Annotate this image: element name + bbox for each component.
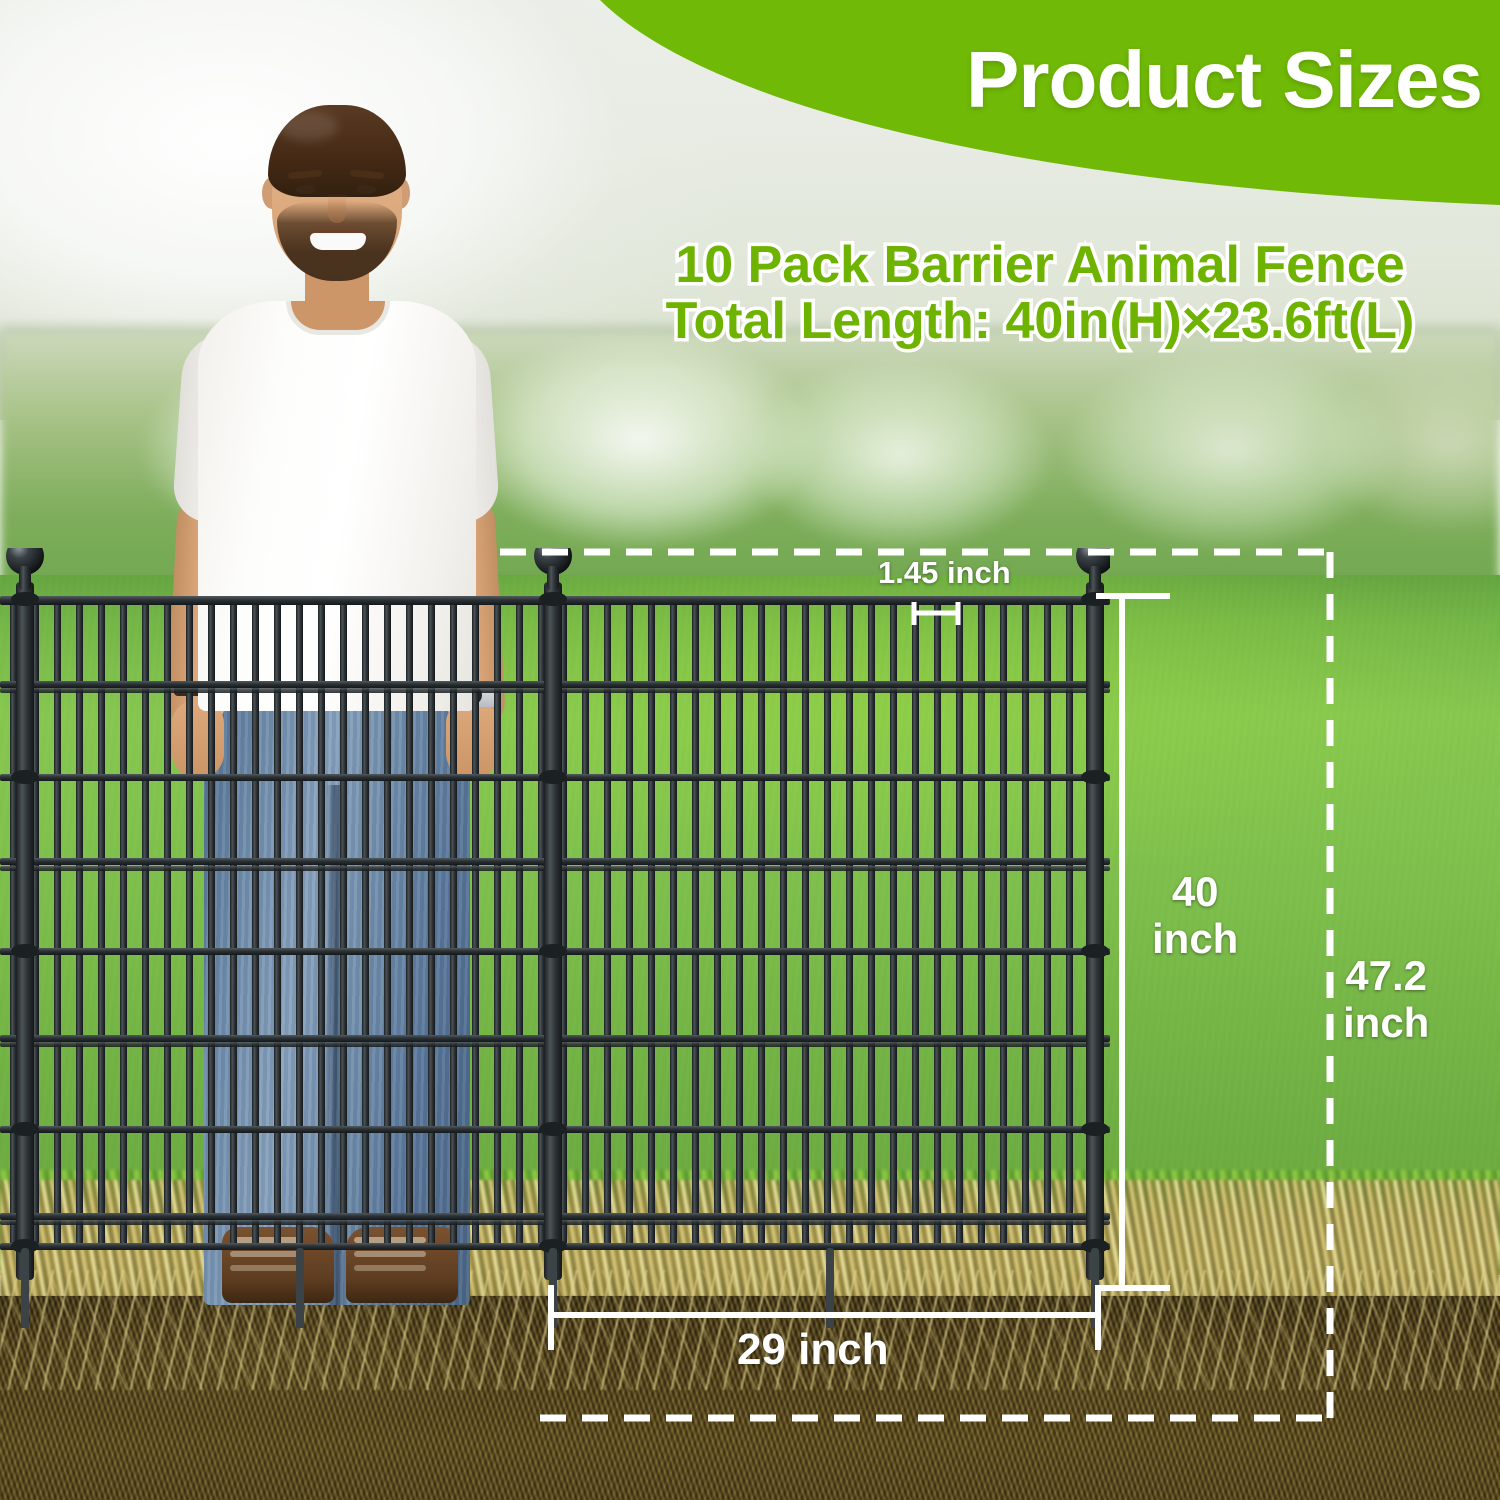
fence-product xyxy=(0,548,1110,1328)
eye-right xyxy=(356,185,376,194)
banner-title: Product Sizes xyxy=(966,34,1482,126)
eye-left xyxy=(296,185,316,194)
product-infographic: Product Sizes 10 Pack Barrier Animal Fen… xyxy=(0,0,1500,1500)
smile xyxy=(310,233,366,250)
hair xyxy=(268,105,406,197)
headline-line-2: Total Length: 40in(H)×23.6ft(L) xyxy=(590,294,1490,350)
product-headline: 10 Pack Barrier Animal Fence Total Lengt… xyxy=(590,238,1490,349)
headline-line-1: 10 Pack Barrier Animal Fence xyxy=(590,238,1490,294)
nose xyxy=(328,193,346,223)
